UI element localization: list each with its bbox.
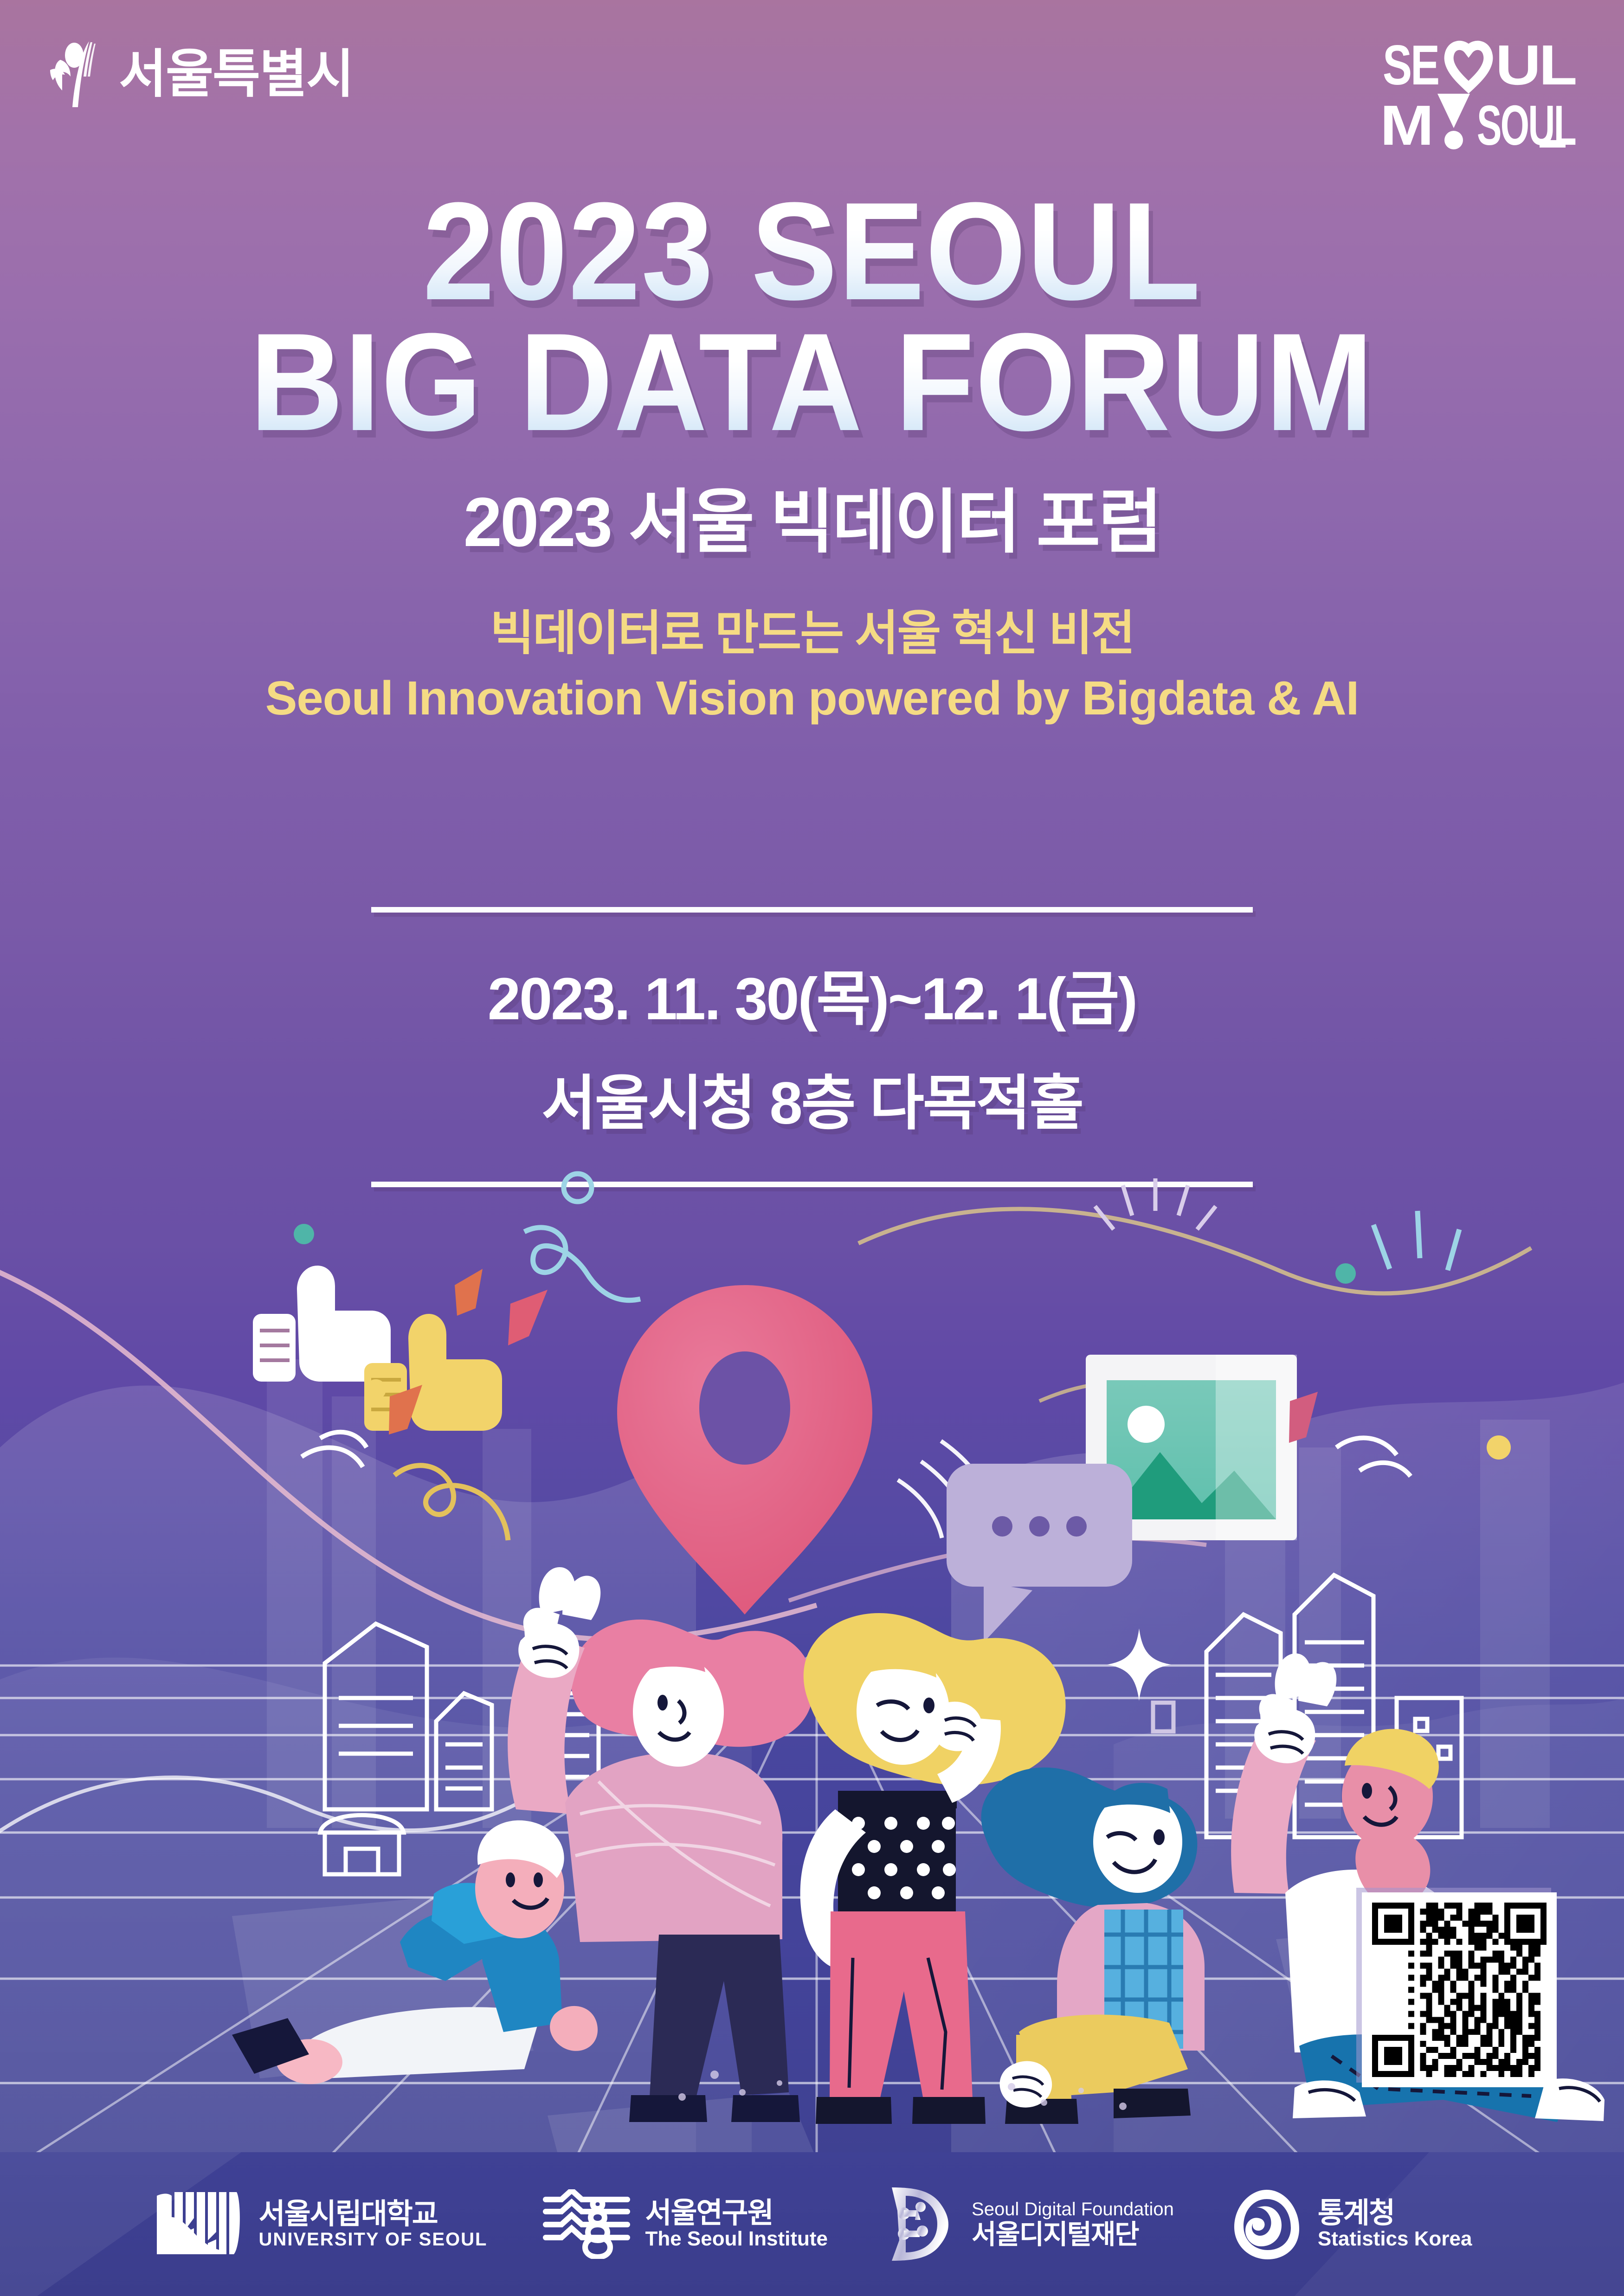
seoul-haechi-mark-icon [46, 39, 107, 109]
partner-name-english: UNIVERSITY OF SEOUL [259, 2230, 488, 2249]
event-info-block: 2023. 11. 30(목)~12. 1(금) 서울시청 8층 다목적홀 [0, 907, 1624, 1187]
tsi-wave-mark-icon [543, 2189, 631, 2259]
speech-bubble-icon [947, 1464, 1132, 1642]
title-line-2: BIG DATA FORUM [57, 316, 1567, 447]
event-venue: 서울시청 8층 다목적홀 [0, 1055, 1624, 1141]
character-white-hair-sitting [232, 1820, 598, 2084]
svg-text:UL: UL [1495, 37, 1576, 96]
partner-name-korean: 서울디지털재단 [972, 2221, 1174, 2249]
event-date: 2023. 11. 30(목)~12. 1(금) [0, 951, 1624, 1036]
map-pin-icon [617, 1285, 872, 1614]
partner-name-korean: 서울시립대학교 [259, 2199, 488, 2229]
korea-government-taegeuk-icon [1230, 2187, 1304, 2261]
subtitle-korean: 빅데이터로 만드는 서울 혁신 비전 [0, 594, 1624, 663]
title-korean: 2023 서울 빅데이터 포럼 [0, 466, 1624, 566]
partner-logo-band: 서울시립대학교 UNIVERSITY OF SEOUL 서울연구원 The Se… [0, 2152, 1624, 2296]
partner-name-korean: 통계청 [1318, 2198, 1472, 2228]
seoul-city-logo: 서울특별시 [46, 39, 353, 109]
heart-icon [1449, 45, 1489, 87]
qr-code[interactable] [1362, 1892, 1557, 2087]
partner-name-english: The Seoul Institute [645, 2228, 828, 2250]
subtitle-english: Seoul Innovation Vision powered by Bigda… [0, 671, 1624, 726]
title-line-1: 2023 SEOUL [57, 186, 1567, 316]
seoul-city-wordmark: 서울특별시 [119, 48, 353, 100]
exclamation-icon [1437, 94, 1470, 128]
partner-statistics-korea: 통계청 Statistics Korea [1230, 2187, 1472, 2261]
uos-bar-mark-icon [152, 2189, 245, 2259]
character-blue-hair [981, 1768, 1205, 2124]
svg-text:M: M [1383, 94, 1432, 153]
partner-name-korean: 서울연구원 [645, 2198, 828, 2228]
poster-canvas: 서울특별시 SE UL M SOUL 2023 SEOUL BIG DATA F… [0, 0, 1624, 2296]
partner-name-english: Statistics Korea [1318, 2228, 1472, 2250]
partner-the-seoul-institute: 서울연구원 The Seoul Institute [543, 2189, 828, 2259]
divider-top [371, 907, 1253, 913]
partner-name-english: Seoul Digital Foundation [972, 2200, 1174, 2219]
seoul-my-soul-logo: SE UL M SOUL [1383, 37, 1578, 153]
title-block: 2023 SEOUL BIG DATA FORUM 2023 서울 빅데이터 포… [0, 186, 1624, 726]
partner-university-of-seoul: 서울시립대학교 UNIVERSITY OF SEOUL [152, 2189, 488, 2259]
sdf-d-mark-icon [883, 2185, 958, 2264]
partner-seoul-digital-foundation: Seoul Digital Foundation 서울디지털재단 [883, 2185, 1174, 2264]
qr-code-image [1372, 1903, 1547, 2077]
svg-text:SE: SE [1383, 37, 1438, 96]
